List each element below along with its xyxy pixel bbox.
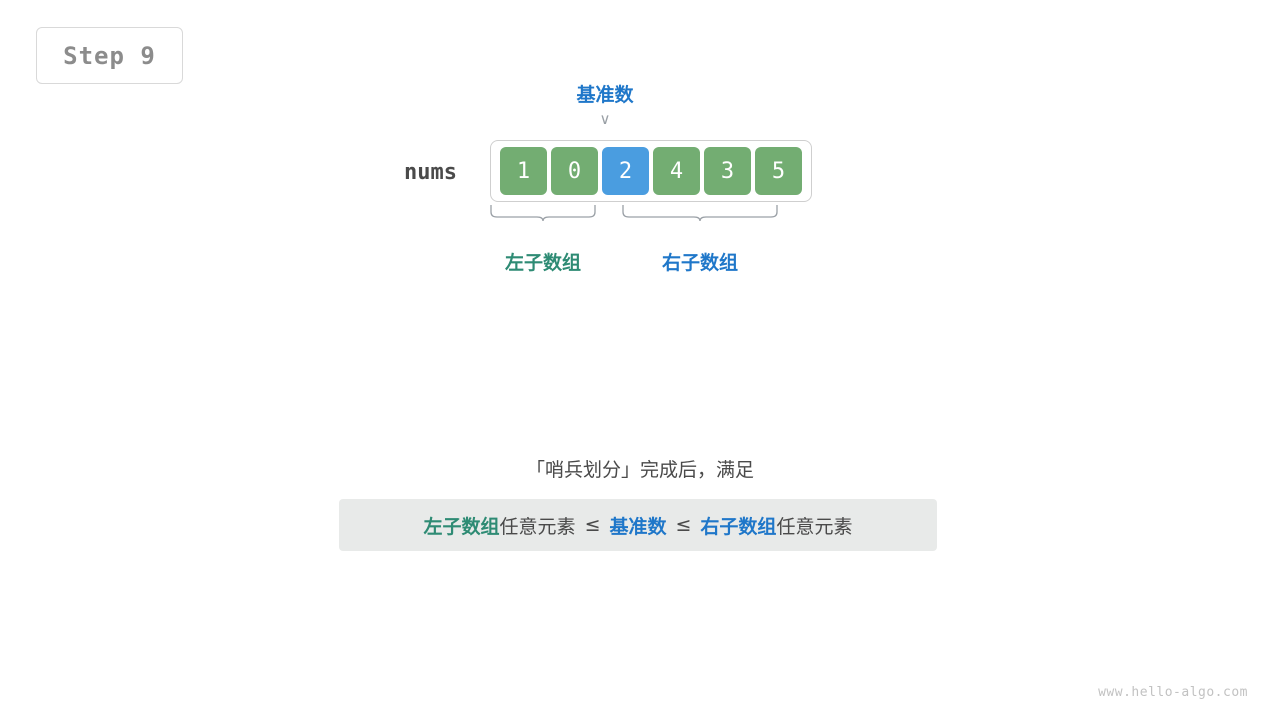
formula-left-subarray: 左子数组 xyxy=(424,512,500,539)
array-name-label: nums xyxy=(404,160,457,185)
formula-operator-2: ≤ xyxy=(667,514,701,536)
pivot-label: 基准数 xyxy=(535,80,675,107)
array-cell: 3 xyxy=(704,147,751,195)
conclusion-text: 「哨兵划分」完成后，满足 xyxy=(0,455,1280,482)
array-cell-pivot: 2 xyxy=(602,147,649,195)
array-cell: 0 xyxy=(551,147,598,195)
left-subarray-label: 左子数组 xyxy=(490,248,596,275)
step-badge-label: Step 9 xyxy=(63,42,156,70)
formula-pivot: 基准数 xyxy=(609,512,666,539)
footer-url: www.hello-algo.com xyxy=(1098,685,1248,700)
formula-left-suffix: 任意元素 xyxy=(500,512,576,539)
formula-right-suffix: 任意元素 xyxy=(776,512,852,539)
formula-operator-1: ≤ xyxy=(576,514,610,536)
formula-box: 左子数组任意元素 ≤ 基准数 ≤ 右子数组任意元素 xyxy=(339,499,937,551)
array-cell: 4 xyxy=(653,147,700,195)
array-cell: 5 xyxy=(755,147,802,195)
pivot-arrow-icon: ∨ xyxy=(535,112,675,127)
left-subarray-brace-icon xyxy=(490,204,596,222)
step-badge: Step 9 xyxy=(36,27,183,84)
right-subarray-label: 右子数组 xyxy=(622,248,778,275)
array-diagram: 基准数 ∨ nums 1 0 2 4 3 5 左子数组 右子数组 xyxy=(380,80,900,300)
formula-right-subarray: 右子数组 xyxy=(700,512,776,539)
right-subarray-brace-icon xyxy=(622,204,778,222)
array-container: 1 0 2 4 3 5 xyxy=(490,140,812,202)
array-cell: 1 xyxy=(500,147,547,195)
